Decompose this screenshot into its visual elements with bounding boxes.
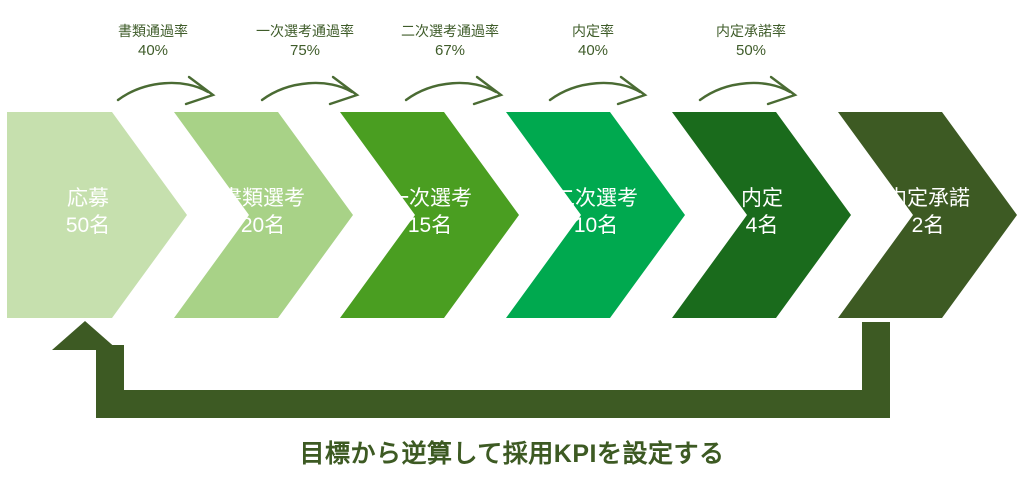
diagram-caption: 目標から逆算して採用KPIを設定する (0, 434, 1024, 470)
step-arrow-5-icon (700, 77, 795, 104)
step-arrow-1-icon (118, 77, 213, 104)
funnel-stage-application[interactable] (7, 112, 187, 318)
funnel-stage-offer-accepted[interactable] (838, 112, 1017, 318)
step-arrow-2-icon (262, 77, 357, 104)
funnel-stages-group (7, 112, 1017, 318)
feedback-return-arrow-icon (52, 321, 890, 418)
funnel-stage-second-interview[interactable] (506, 112, 685, 318)
funnel-stage-document-screening[interactable] (174, 112, 353, 318)
funnel-diagram: 書類通過率 40% 一次選考通過率 75% 二次選考通過率 67% 内定率 40… (0, 0, 1024, 482)
funnel-stage-offer[interactable] (672, 112, 851, 318)
funnel-stage-first-interview[interactable] (340, 112, 519, 318)
step-arrows-group (118, 77, 795, 104)
step-arrow-3-icon (406, 77, 501, 104)
step-arrow-4-icon (550, 77, 645, 104)
